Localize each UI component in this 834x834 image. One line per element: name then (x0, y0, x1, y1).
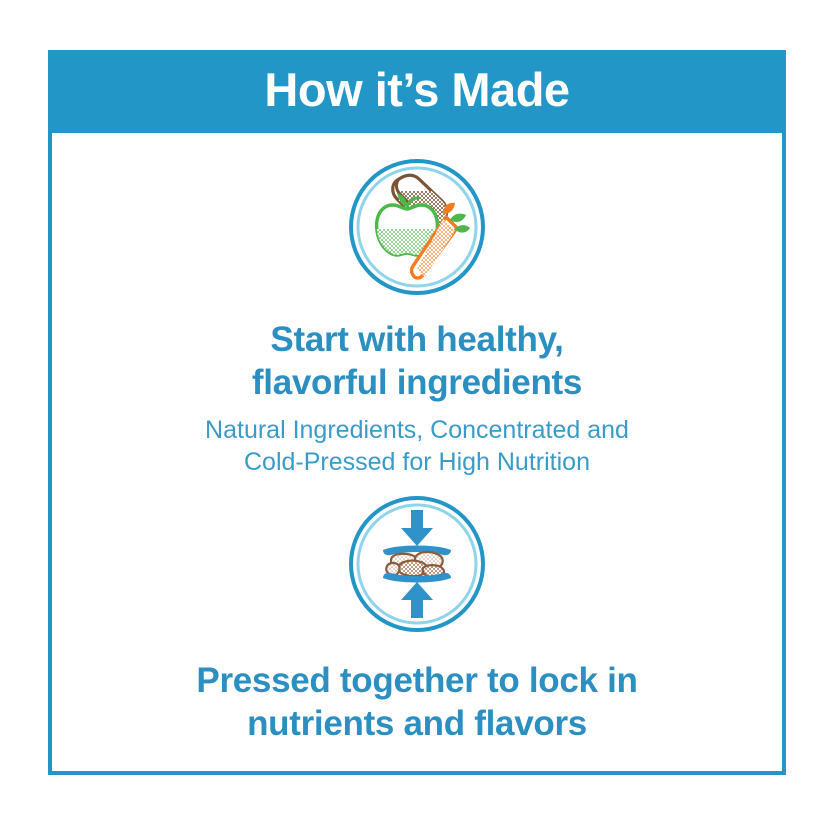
pressed-together-icon (347, 494, 487, 634)
healthy-ingredients-icon (347, 157, 487, 297)
step-1-subtitle-line-1: Natural Ingredients, Concentrated and (205, 416, 629, 444)
step-1-heading: Start with healthy, flavorful ingredient… (252, 297, 582, 404)
card-header: How it’s Made (48, 50, 786, 133)
step-2-heading-line-1: Pressed together to lock in (196, 661, 637, 700)
step-2: Pressed together to lock in nutrients an… (52, 478, 782, 745)
how-its-made-card: How it’s Made (48, 50, 786, 775)
step-1-heading-line-1: Start with healthy, (270, 320, 563, 359)
down-arrow-icon (401, 510, 433, 546)
step-1: Start with healthy, flavorful ingredient… (52, 133, 782, 478)
step-1-subtitle-line-2: Cold-Pressed for High Nutrition (244, 448, 590, 476)
step-1-heading-line-2: flavorful ingredients (252, 363, 582, 402)
page-title: How it’s Made (264, 66, 569, 117)
up-arrow-icon (401, 582, 433, 618)
step-2-heading-line-2: nutrients and flavors (247, 704, 587, 743)
step-2-heading: Pressed together to lock in nutrients an… (196, 634, 637, 745)
infographic-page: How it’s Made (0, 0, 834, 834)
card-body: Start with healthy, flavorful ingredient… (48, 133, 786, 775)
step-1-subtitle: Natural Ingredients, Concentrated and Co… (205, 404, 629, 478)
